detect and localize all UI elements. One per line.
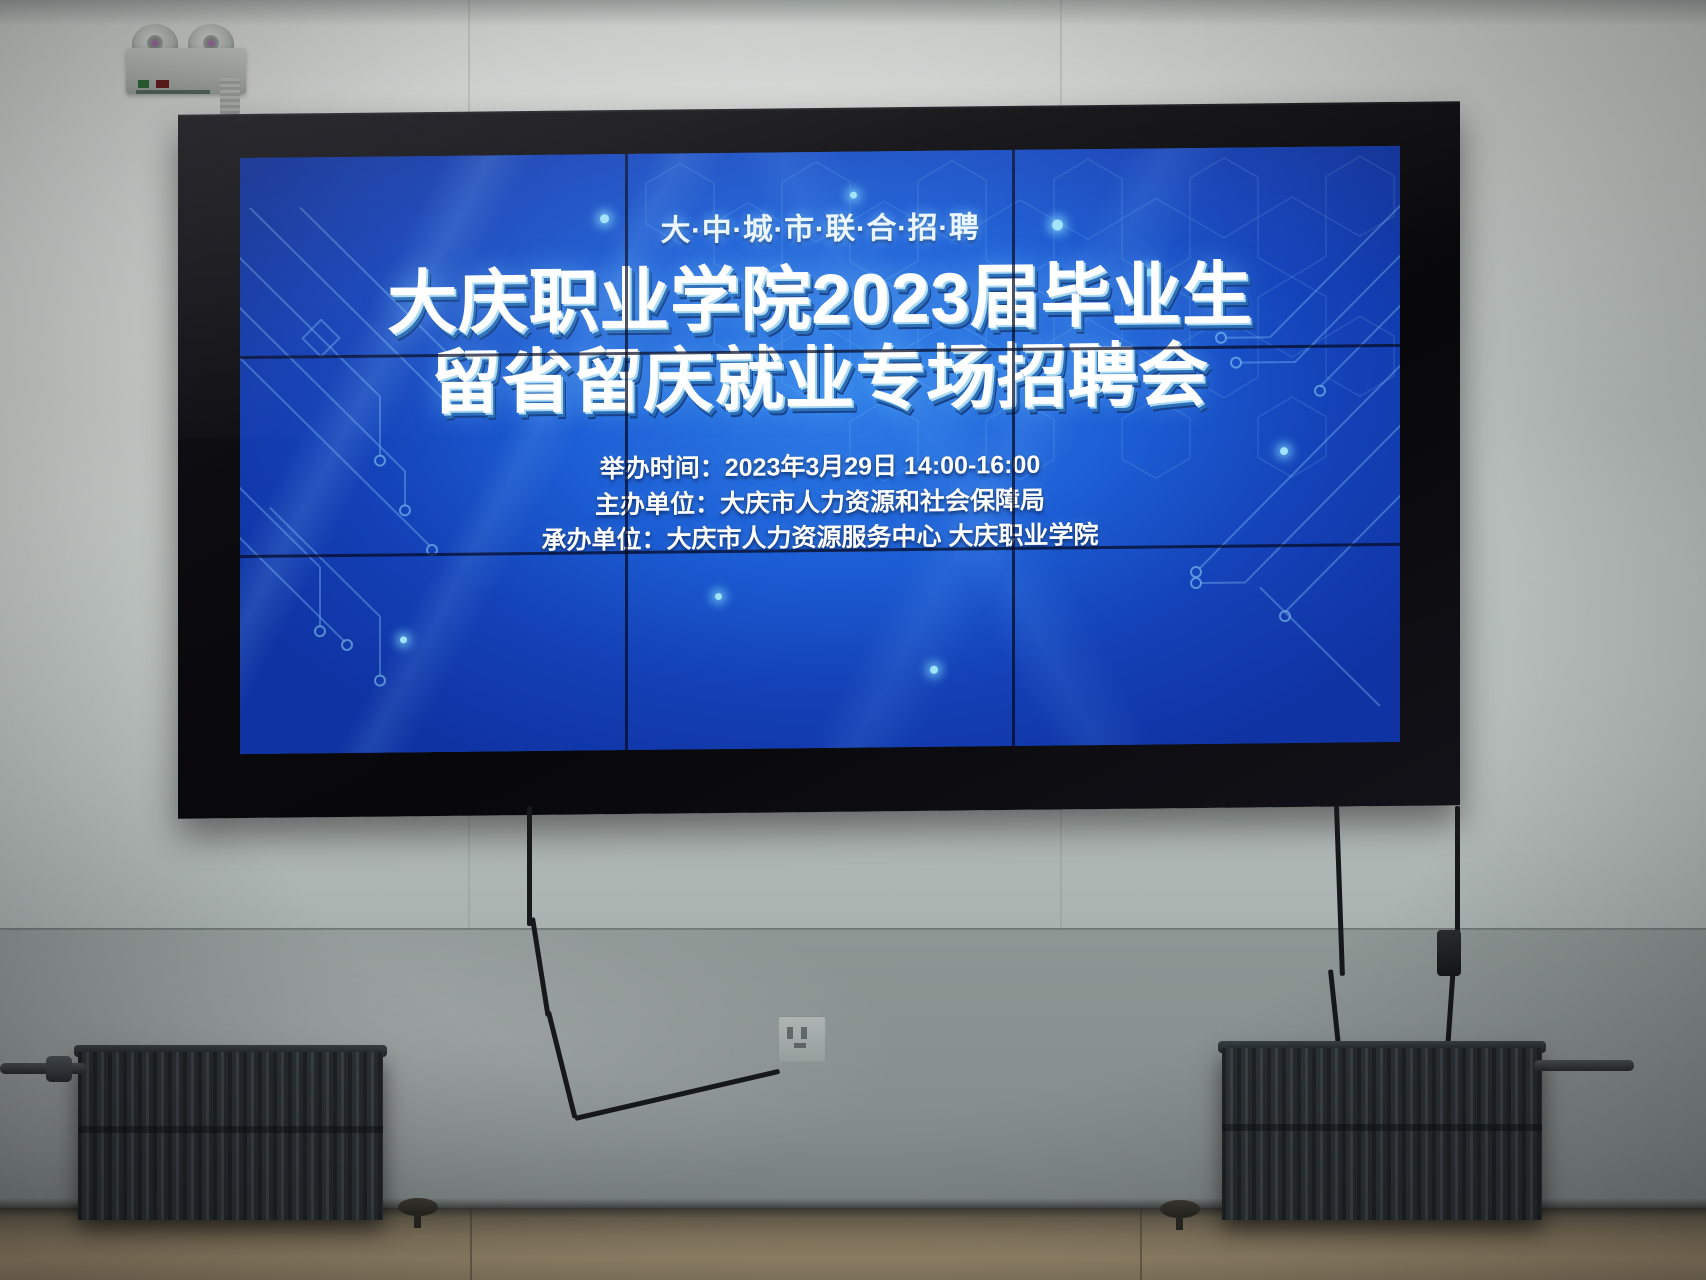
- poster-content: 大·中·城·市·联·合·招·聘 大庆职业学院2023届毕业生 留省留庆就业专场招…: [240, 146, 1400, 754]
- room-scene: 大·中·城·市·联·合·招·聘 大庆职业学院2023届毕业生 留省留庆就业专场招…: [0, 0, 1706, 1280]
- cable-center: [527, 806, 532, 926]
- outlet-slot: [801, 1027, 807, 1039]
- floor-seam: [470, 1208, 472, 1280]
- radiator-fins: [1222, 1048, 1542, 1220]
- power-adapter: [1437, 930, 1461, 976]
- outlet-slot: [794, 1043, 806, 1048]
- radiator-fins: [78, 1052, 383, 1220]
- fault-led-icon: [156, 80, 169, 88]
- ceiling-shadow: [0, 0, 1706, 26]
- radiator-mid-band: [78, 1126, 383, 1133]
- radiator-right-floor-valve[interactable]: [1160, 1200, 1200, 1218]
- power-led-icon: [138, 80, 149, 88]
- poster-kicker: 大·中·城·市·联·合·招·聘: [661, 202, 980, 249]
- emergency-light-body: [126, 48, 246, 94]
- video-wall-screen[interactable]: 大·中·城·市·联·合·招·聘 大庆职业学院2023届毕业生 留省留庆就业专场招…: [240, 146, 1400, 754]
- panel-seam-vertical: [625, 154, 628, 750]
- radiator-left-valve[interactable]: [46, 1056, 72, 1082]
- radiator-left-floor-valve[interactable]: [398, 1198, 438, 1216]
- panel-seam-vertical: [1012, 150, 1015, 746]
- emergency-light-label: [136, 90, 210, 94]
- valve-stem: [1176, 1214, 1183, 1230]
- video-wall[interactable]: 大·中·城·市·联·合·招·聘 大庆职业学院2023届毕业生 留省留庆就业专场招…: [178, 101, 1460, 818]
- floor-seam: [1140, 1208, 1142, 1280]
- radiator-mid-band: [1222, 1124, 1542, 1131]
- emergency-light: [126, 22, 246, 94]
- outlet-slot: [787, 1027, 793, 1039]
- radiator-right-pipe: [1534, 1060, 1634, 1071]
- vent-icon: [220, 78, 240, 114]
- poster-title-line-1: 大庆职业学院2023届毕业生: [387, 257, 1253, 340]
- wall-outlet[interactable]: [778, 1016, 826, 1062]
- radiator-left: [78, 1052, 383, 1220]
- radiator-left-pipe: [0, 1063, 86, 1074]
- poster-title-block: 大庆职业学院2023届毕业生 留省留庆就业专场招聘会: [387, 257, 1253, 420]
- valve-stem: [414, 1212, 421, 1228]
- radiator-right: [1222, 1048, 1542, 1220]
